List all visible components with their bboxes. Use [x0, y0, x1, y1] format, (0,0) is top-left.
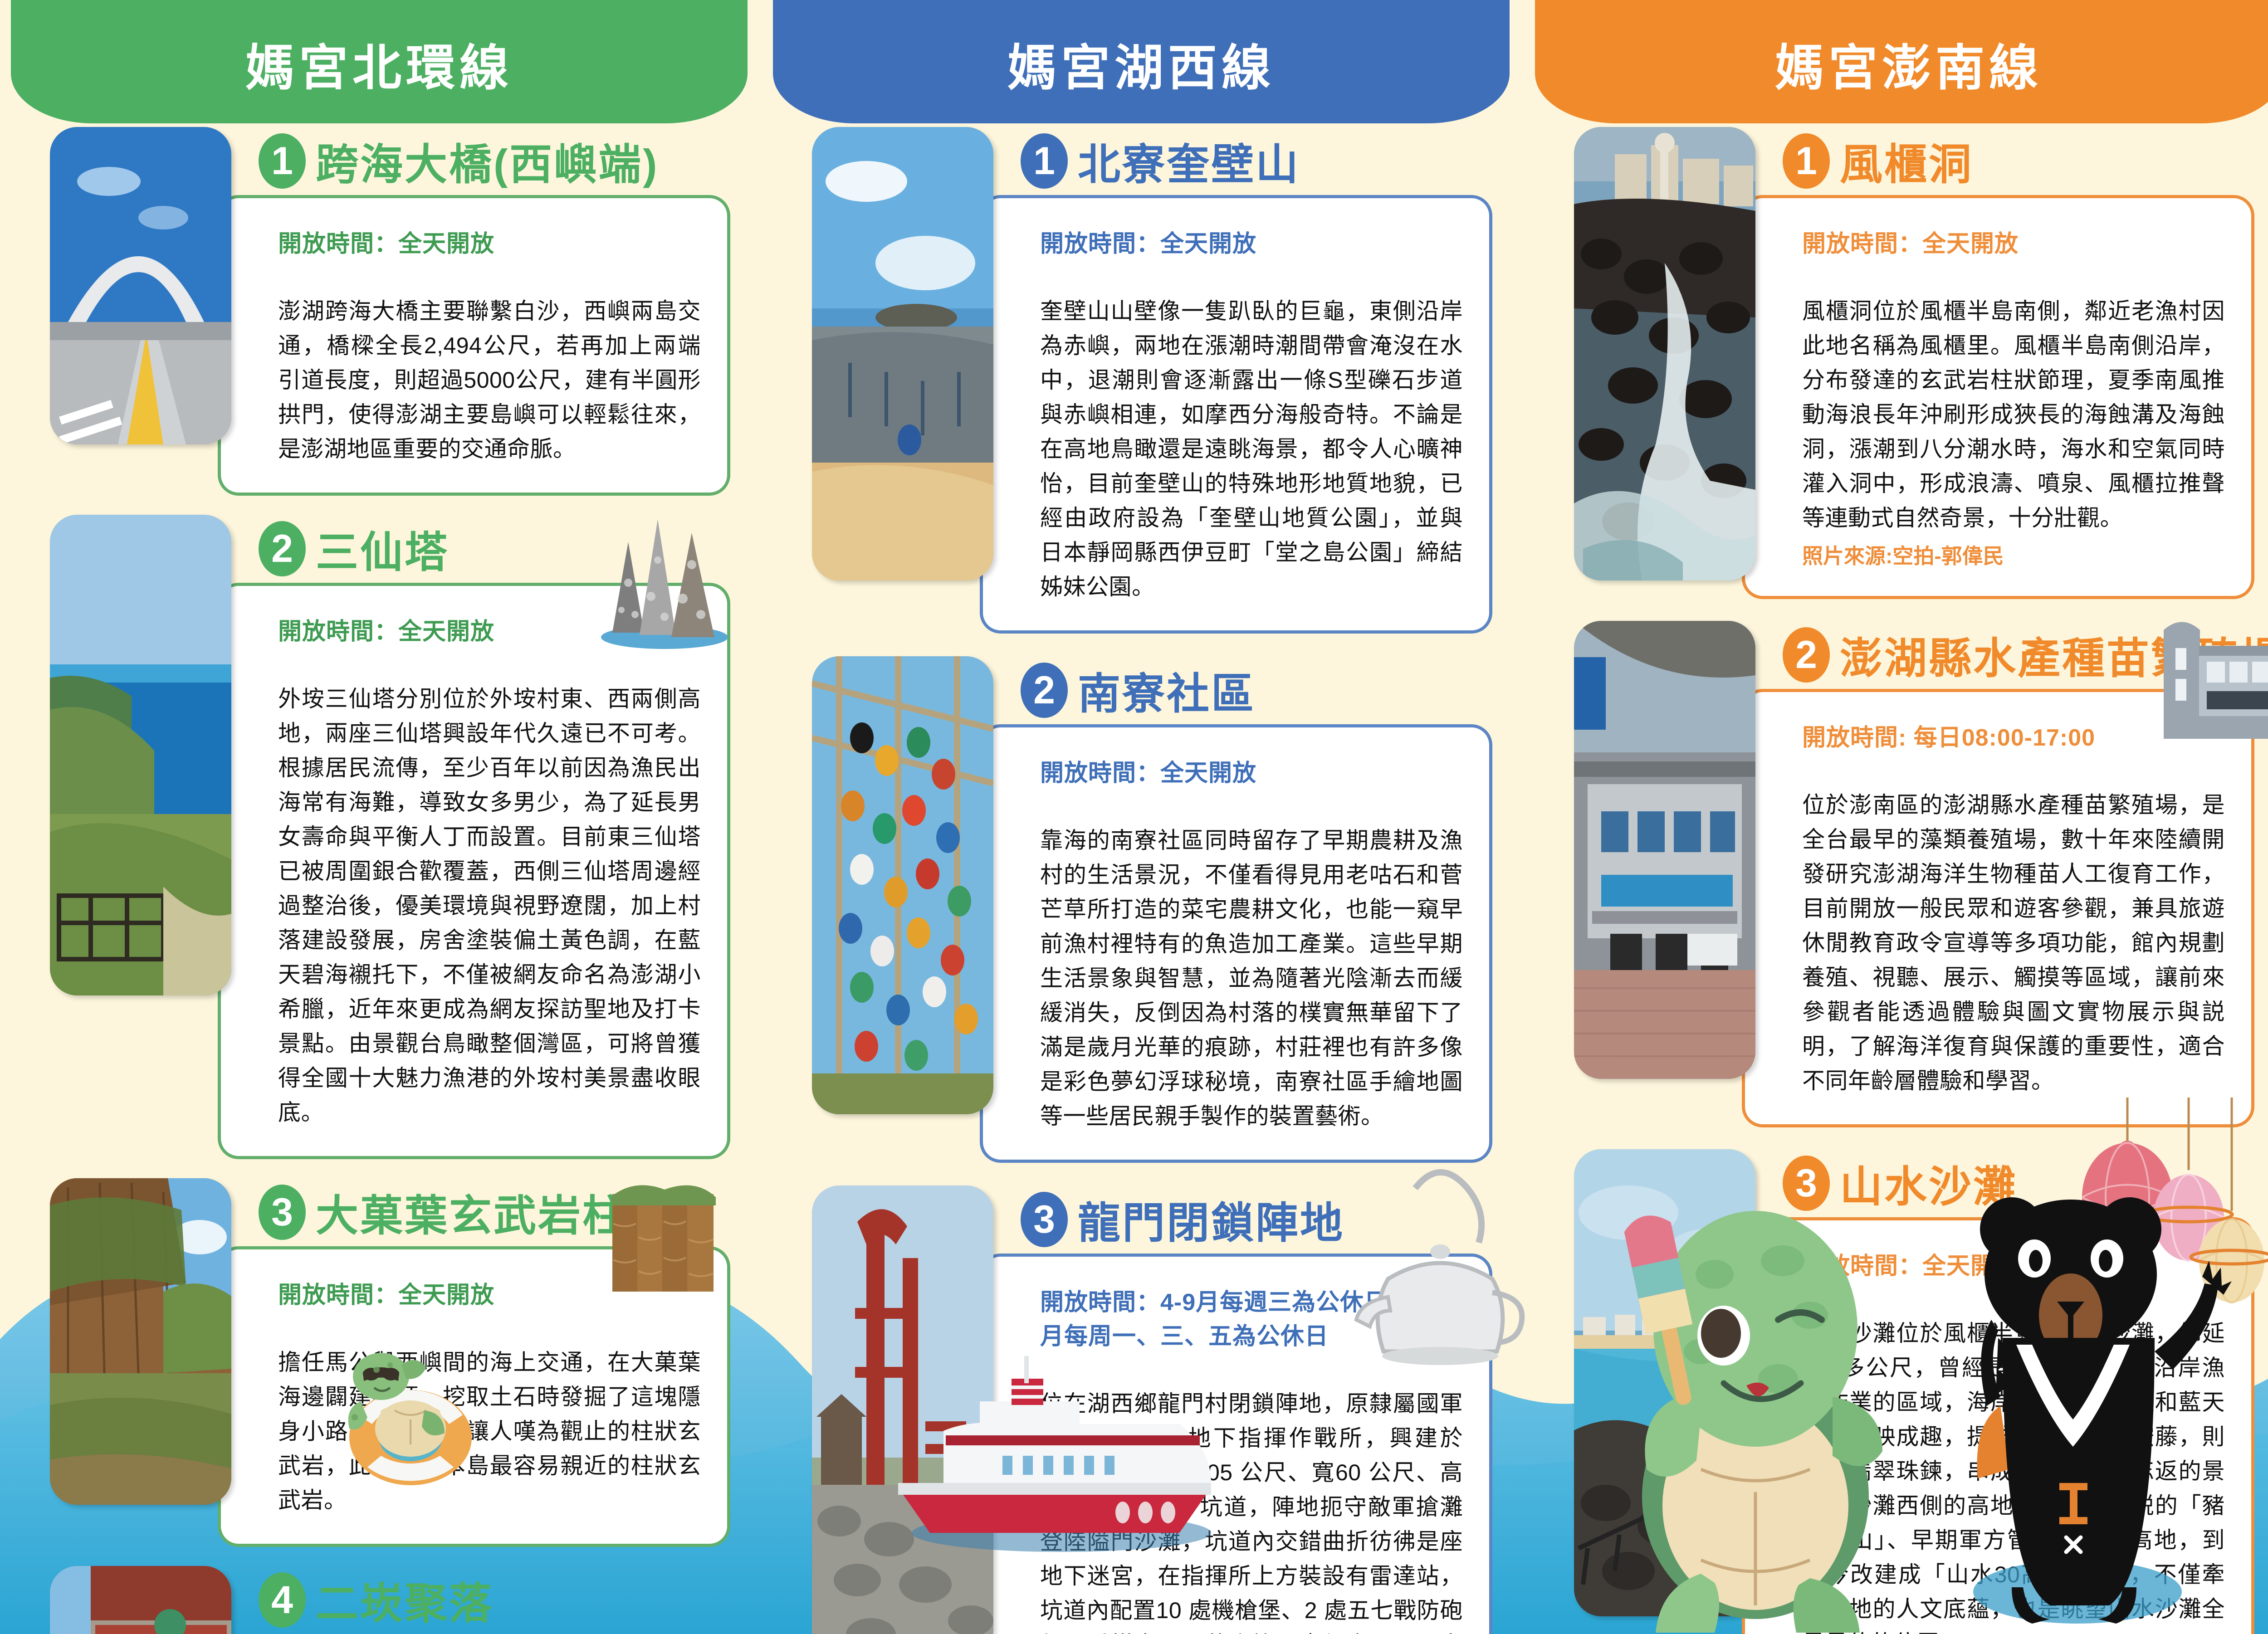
- attraction-description: 風櫃洞位於風櫃半島南側，鄰近老漁村因此地名稱為風櫃里。風櫃半島南側沿岸，分布發達…: [1802, 294, 2225, 535]
- attraction-photo: [50, 515, 231, 995]
- attraction-header: 1 跨海大橋(西嶼端): [259, 127, 730, 195]
- column-header-north-ring: 媽宮北環線: [11, 0, 748, 123]
- attraction-header: 2 南寮社區: [1021, 656, 1492, 724]
- attraction-description: 靠海的南寮社區同時留存了早期農耕及漁村的生活景況，不僅看得見用老咕石和菅芒草所打…: [1040, 823, 1463, 1133]
- opening-hours: 開放時間：全天開放: [278, 224, 701, 259]
- attraction-title: 山水沙灘: [1840, 1152, 2018, 1214]
- attraction-body: 開放時間：全天開放 奎壁山山壁像一隻趴臥的巨龜，東側沿岸為赤嶼，兩地在漲潮時潮間…: [812, 195, 1492, 634]
- attraction-description: 山水沙灘位於風櫃半島南岸的沙灘，綿延200多公尺，曾經是山水居民從事沿岸漁撈作業…: [1802, 1316, 2225, 1634]
- attraction-photo: [50, 127, 231, 444]
- attraction-number: 2: [1783, 627, 1830, 683]
- attraction-header: 4 二崁聚落: [259, 1566, 730, 1634]
- attraction-card: 開放時間：4-9月每週三為公休日，10-3月每周一、三、五為公休日 位在湖西鄉龍…: [980, 1254, 1492, 1634]
- opening-hours: 開放時間：全天開放: [278, 1276, 701, 1310]
- attraction-title: 風櫃洞: [1840, 130, 1973, 192]
- opening-hours: 開放時間：全天開放: [278, 612, 701, 646]
- opening-hours: 開放時間：全天開放: [1040, 224, 1463, 259]
- attraction-photo: [50, 1178, 231, 1505]
- attraction-header: 3 山水沙灘: [1783, 1149, 2254, 1217]
- attraction-number: 3: [259, 1185, 306, 1240]
- opening-hours: 開放時間: 每日08:00-17:00: [1802, 718, 2225, 752]
- attraction-card: 開放時間：全天開放 外垵三仙塔分別位於外垵村東、西兩側高地，兩座三仙塔興設年代久…: [218, 583, 730, 1159]
- attraction-item[interactable]: 3 龍門閉鎖陣地: [812, 1185, 1492, 1634]
- brochure-page: 媽宮北環線 媽宮湖西線 媽宮澎南線 1 跨海大橋(西嶼端): [0, 0, 2268, 1634]
- attraction-item[interactable]: 1 風櫃洞: [1574, 127, 2254, 599]
- attraction-item[interactable]: 2 三仙塔: [50, 515, 730, 1159]
- attraction-photo: [1574, 127, 1755, 580]
- attraction-body: 開放時間：全天開放 外垵三仙塔分別位於外垵村東、西兩側高地，兩座三仙塔興設年代久…: [50, 583, 730, 1159]
- attraction-title: 龍門閉鎖陣地: [1078, 1189, 1344, 1250]
- attraction-item[interactable]: 3 山水沙灘: [1574, 1149, 2254, 1634]
- attraction-item[interactable]: 4 二崁聚落: [50, 1566, 730, 1634]
- attraction-item[interactable]: 3 大菓葉玄武岩柱: [50, 1178, 730, 1547]
- attraction-header: 2 澎湖縣水產種苗繁殖場: [1783, 621, 2254, 689]
- attraction-description: 澎湖跨海大橋主要聯繫白沙，西嶼兩島交通，橋樑全長2,494公尺，若再加上兩端引道…: [278, 294, 701, 466]
- column-huxi: 1 北寮奎壁山: [812, 127, 1492, 1634]
- photo-credit: 照片來源:空拍-郭偉民: [1802, 540, 2225, 570]
- attraction-header: 3 龍門閉鎖陣地: [1021, 1185, 1492, 1254]
- opening-hours: 開放時間：全天開放: [1802, 1247, 2225, 1281]
- attraction-card: 開放時間：全天開放 靠海的南寮社區同時留存了早期農耕及漁村的生活景況，不僅看得見…: [980, 724, 1492, 1163]
- attraction-card: 開放時間：全天開放 擔任馬公與西嶼間的海上交通，在大菓葉海邊闢建碼頭，挖取土石時…: [218, 1246, 730, 1547]
- attraction-body: 開放時間: 每日08:00-17:00 位於澎南區的澎湖縣水產種苗繁殖場，是全台…: [1574, 689, 2254, 1127]
- column-header-pengnan: 媽宮澎南線: [1535, 0, 2268, 123]
- attraction-photo: [1574, 1149, 1755, 1616]
- attraction-body: 開放時間：全天開放 風櫃洞位於風櫃半島南側，鄰近老漁村因此地名稱為風櫃里。風櫃半…: [1574, 195, 2254, 599]
- attraction-photo: [50, 1566, 231, 1634]
- opening-hours: 開放時間：全天開放: [1040, 754, 1463, 788]
- attraction-photo: [812, 656, 993, 1114]
- attraction-body: 開放時間：全天開放 山水沙灘位於風櫃半島南岸的沙灘，綿延200多公尺，曾經是山水…: [1574, 1217, 2254, 1634]
- column-header-title: 媽宮湖西線: [1007, 44, 1275, 93]
- attraction-header: 1 風櫃洞: [1783, 127, 2254, 195]
- attraction-body: 開放時間：全天開放 擔任馬公與西嶼間的海上交通，在大菓葉海邊闢建碼頭，挖取土石時…: [50, 1246, 730, 1547]
- attraction-photo: [812, 1185, 993, 1634]
- column-north-ring: 1 跨海大橋(西嶼端): [50, 127, 730, 1634]
- attraction-card: 開放時間：全天開放 奎壁山山壁像一隻趴臥的巨龜，東側沿岸為赤嶼，兩地在漲潮時潮間…: [980, 195, 1492, 634]
- attraction-item[interactable]: 2 澎湖縣水產種苗繁殖場: [1574, 621, 2254, 1127]
- column-header-title: 媽宮澎南線: [1775, 44, 2043, 93]
- column-header-huxi: 媽宮湖西線: [773, 0, 1510, 123]
- attraction-number: 1: [259, 133, 306, 189]
- attraction-number: 4: [259, 1572, 306, 1628]
- attraction-photo: [1574, 621, 1755, 1079]
- attraction-body: 開放時間：全天開放 靠海的南寮社區同時留存了早期農耕及漁村的生活景況，不僅看得見…: [812, 724, 1492, 1163]
- attraction-description: 位於澎南區的澎湖縣水產種苗繁殖場，是全台最早的藻類養殖場，數十年來陸續開發研究澎…: [1802, 788, 2225, 1098]
- column-header-title: 媽宮北環線: [245, 44, 513, 93]
- attraction-title: 二崁聚落: [316, 1569, 494, 1631]
- attraction-number: 3: [1783, 1156, 1830, 1211]
- attraction-item[interactable]: 1 北寮奎壁山: [812, 127, 1492, 634]
- attraction-number: 2: [1021, 663, 1068, 718]
- attraction-number: 3: [1021, 1192, 1068, 1247]
- column-pengnan: 1 風櫃洞: [1574, 127, 2254, 1634]
- attraction-title: 三仙塔: [316, 518, 449, 580]
- attraction-photo: [812, 127, 993, 580]
- opening-hours: 開放時間：4-9月每週三為公休日，10-3月每周一、三、五為公休日: [1040, 1283, 1463, 1351]
- attraction-header: 2 三仙塔: [259, 515, 730, 583]
- attraction-body: 開放時間：全天開放 澎湖跨海大橋主要聯繫白沙，西嶼兩島交通，橋樑全長2,494公…: [50, 195, 730, 496]
- attraction-description: 擔任馬公與西嶼間的海上交通，在大菓葉海邊闢建碼頭，挖取土石時發掘了這塊隱身小路旁…: [278, 1345, 701, 1517]
- attraction-item[interactable]: 1 跨海大橋(西嶼端): [50, 127, 730, 496]
- attraction-description: 位在湖西鄉龍門村閉鎖陣地，原隸屬國軍168 師工兵營地下指揮作戰所，興建於198…: [1040, 1386, 1463, 1634]
- attraction-number: 1: [1021, 133, 1068, 189]
- attraction-card: 開放時間：全天開放 山水沙灘位於風櫃半島南岸的沙灘，綿延200多公尺，曾經是山水…: [1742, 1217, 2254, 1634]
- attraction-description: 奎壁山山壁像一隻趴臥的巨龜，東側沿岸為赤嶼，兩地在漲潮時潮間帶會淹沒在水中，退潮…: [1040, 294, 1463, 604]
- attraction-item[interactable]: 2 南寮社區: [812, 656, 1492, 1163]
- attraction-number: 1: [1783, 133, 1830, 189]
- attraction-title: 北寮奎壁山: [1078, 130, 1300, 192]
- attraction-description: 外垵三仙塔分別位於外垵村東、西兩側高地，兩座三仙塔興設年代久遠已不可考。根據居民…: [278, 682, 701, 1130]
- attraction-title: 澎湖縣水產種苗繁殖場: [1840, 624, 2268, 686]
- attraction-body: 開放時間：4-9月每週三為公休日，10-3月每周一、三、五為公休日 位在湖西鄉龍…: [812, 1254, 1492, 1634]
- attraction-header: 3 大菓葉玄武岩柱: [259, 1178, 730, 1246]
- attraction-card: 開放時間: 每日08:00-17:00 位於澎南區的澎湖縣水產種苗繁殖場，是全台…: [1742, 689, 2254, 1127]
- attraction-title: 跨海大橋(西嶼端): [316, 130, 659, 192]
- attraction-title: 大菓葉玄武岩柱: [316, 1181, 627, 1243]
- attraction-card: 開放時間：全天開放 風櫃洞位於風櫃半島南側，鄰近老漁村因此地名稱為風櫃里。風櫃半…: [1742, 195, 2254, 599]
- attraction-card: 開放時間：全天開放 澎湖跨海大橋主要聯繫白沙，西嶼兩島交通，橋樑全長2,494公…: [218, 195, 730, 496]
- attraction-number: 2: [259, 521, 306, 576]
- attraction-header: 1 北寮奎壁山: [1021, 127, 1492, 195]
- opening-hours: 開放時間：全天開放: [1802, 224, 2225, 259]
- attraction-title: 南寮社區: [1078, 659, 1256, 721]
